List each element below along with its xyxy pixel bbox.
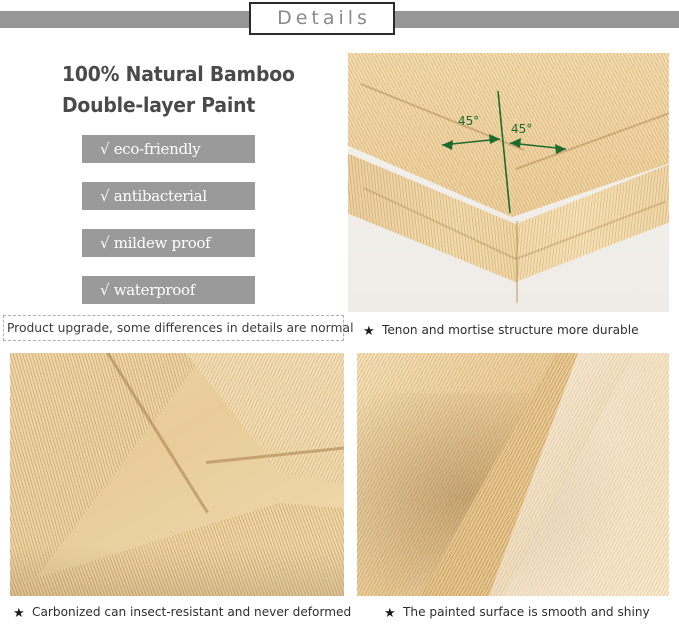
caption-divider-text: Carbonized can insect-resistant and neve… — [32, 606, 351, 619]
feature-text-column: 100% Natural Bamboo Double-layer Paint √… — [0, 46, 345, 312]
feature-badge-list: √ eco-friendly √ antibacterial √ mildew … — [82, 135, 262, 323]
caption-divider: ★ Carbonized can insect-resistant and ne… — [13, 606, 361, 619]
caption-corner-text: Tenon and mortise structure more durable — [382, 324, 639, 337]
feature-badge-mildew-proof: √ mildew proof — [82, 229, 255, 257]
bamboo-corner-seam — [516, 221, 518, 303]
photo-shadow — [10, 546, 344, 596]
star-icon: ★ — [384, 606, 396, 619]
star-icon: ★ — [13, 606, 25, 619]
feature-badge-eco-friendly: √ eco-friendly — [82, 135, 255, 163]
angle-label-right: 45° — [511, 123, 532, 135]
bamboo-surface-photo — [357, 353, 669, 596]
product-upgrade-note: Product upgrade, some differences in det… — [3, 315, 344, 341]
page-title: Details — [273, 9, 371, 28]
feature-badge-antibacterial: √ antibacterial — [82, 182, 255, 210]
feature-badge-label: √ mildew proof — [100, 236, 210, 251]
star-icon: ★ — [363, 324, 375, 337]
feature-badge-waterproof: √ waterproof — [82, 276, 255, 304]
header-title-box: Details — [249, 2, 395, 35]
bamboo-divider-photo — [10, 353, 344, 596]
bamboo-corner-photo: 45° 45° — [348, 53, 669, 312]
feature-badge-label: √ antibacterial — [100, 189, 207, 204]
product-upgrade-note-text: Product upgrade, some differences in det… — [4, 322, 353, 335]
headline-line-1: 100% Natural Bamboo — [62, 62, 295, 86]
product-headline: 100% Natural Bamboo Double-layer Paint — [62, 59, 325, 121]
caption-surface-text: The painted surface is smooth and shiny — [403, 606, 650, 619]
details-header: Details — [0, 0, 679, 46]
headline-line-2: Double-layer Paint — [62, 90, 325, 121]
angle-label-left: 45° — [458, 115, 479, 127]
feature-badge-label: √ waterproof — [100, 283, 195, 298]
caption-corner: ★ Tenon and mortise structure more durab… — [363, 324, 646, 337]
caption-surface: ★ The painted surface is smooth and shin… — [384, 606, 657, 619]
feature-badge-label: √ eco-friendly — [100, 142, 200, 157]
